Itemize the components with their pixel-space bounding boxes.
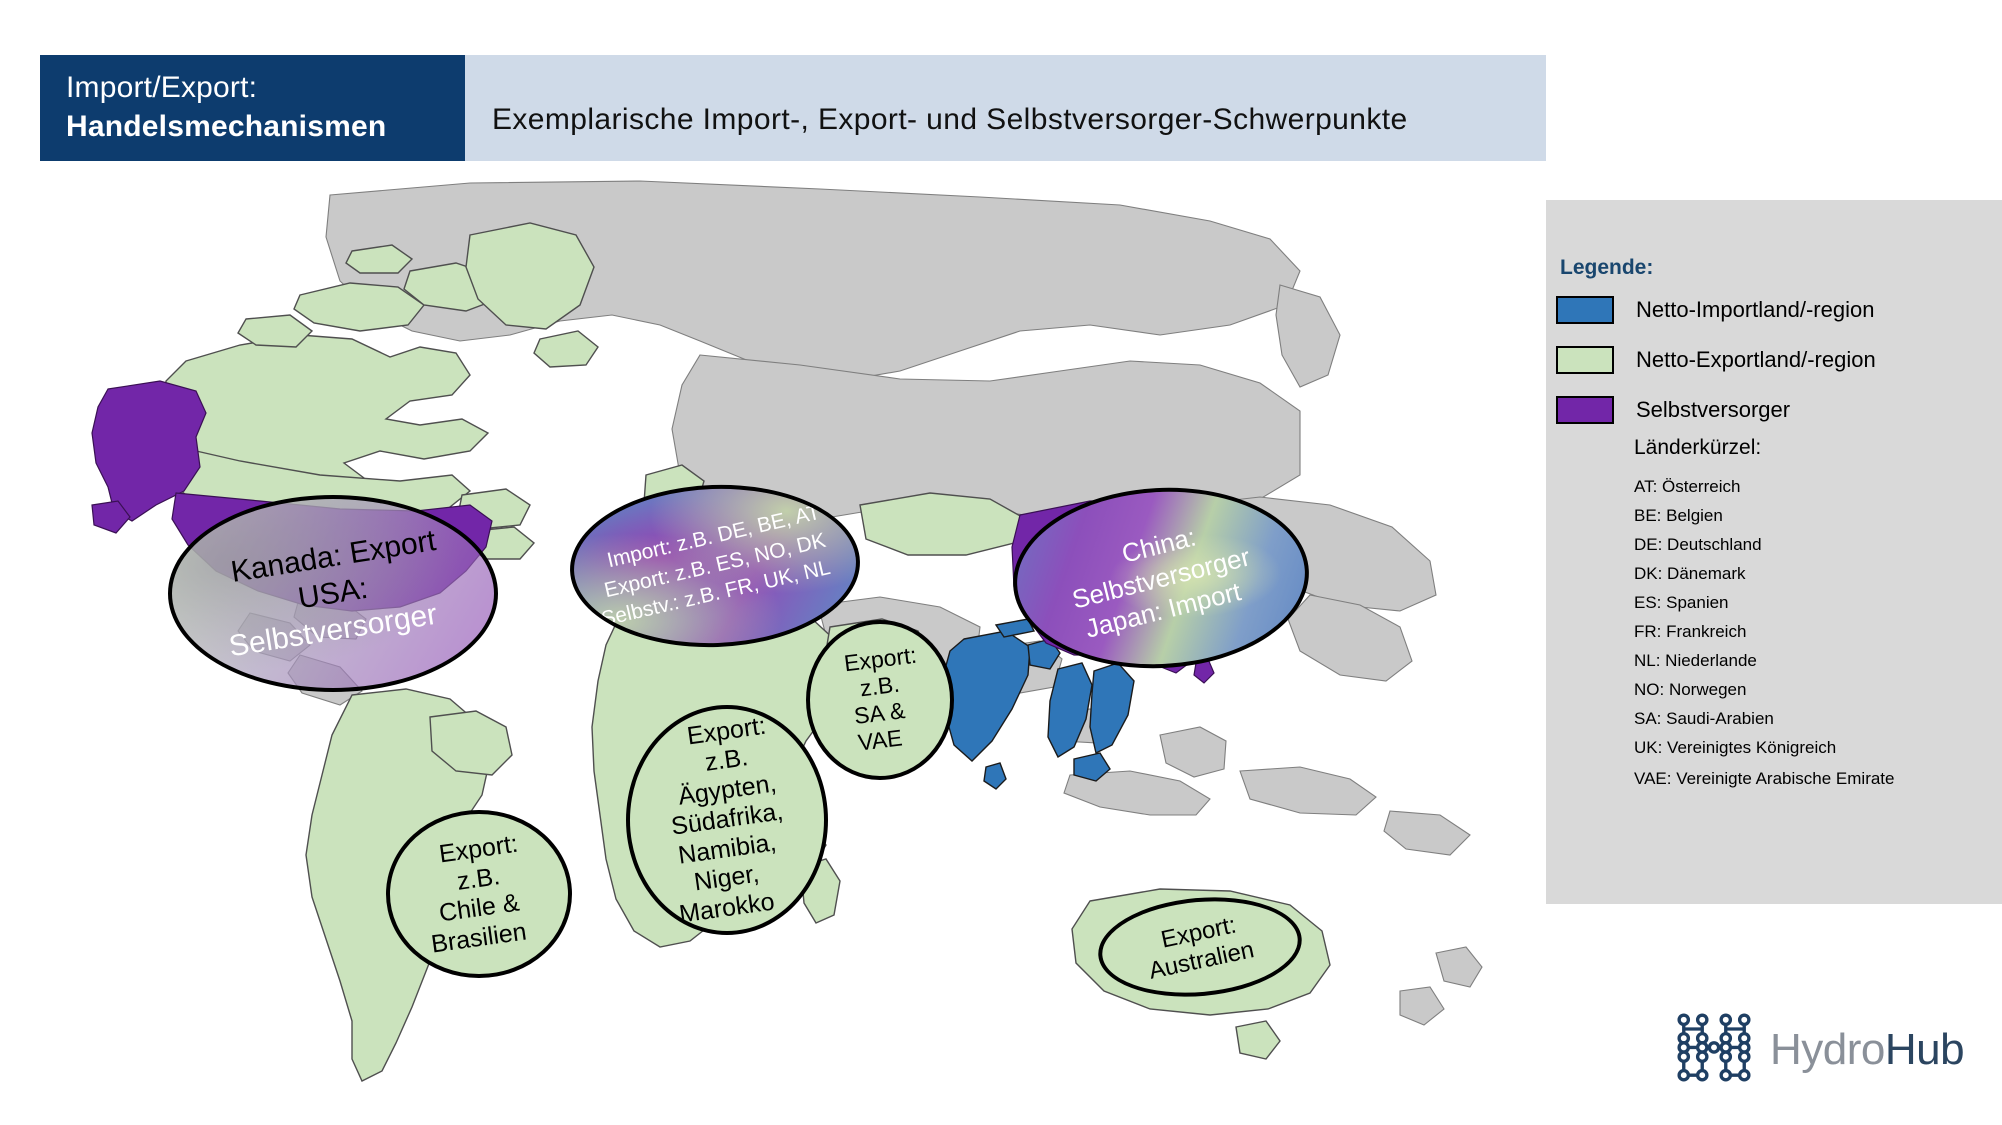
abbrev-item-dk: DK: Dänemark	[1634, 559, 1984, 588]
callout-middle-east-line4: VAE	[856, 725, 903, 757]
hydrohub-logo-mark	[1672, 1008, 1756, 1092]
country-abbreviations-list: AT: Österreich BE: Belgien DE: Deutschla…	[1634, 472, 1984, 791]
callout-africa-line7: Marokko	[677, 887, 776, 930]
header-title-line1: Import/Export:	[66, 69, 465, 107]
slide-canvas: .lnd { stroke:#7f7f7f; stroke-width:1.1;…	[0, 0, 2002, 1125]
legend-item-self-sufficient: Selbstversorger	[1556, 396, 1790, 424]
abbrev-item-vae: VAE: Vereinigte Arabische Emirate	[1634, 762, 1984, 791]
legend-label-export: Netto-Exportland/-region	[1636, 347, 1876, 373]
legend-label-import: Netto-Importland/-region	[1636, 297, 1874, 323]
logo-text-hub: Hub	[1885, 1025, 1964, 1074]
legend-swatch-export	[1556, 346, 1614, 374]
abbrev-item-fr: FR: Frankreich	[1634, 617, 1984, 646]
legend-item-import: Netto-Importland/-region	[1556, 296, 1874, 324]
callout-north-america: Kanada: Export USA: Selbstversorger	[168, 495, 498, 692]
abbrev-item-de: DE: Deutschland	[1634, 530, 1984, 559]
abbrev-item-es: ES: Spanien	[1634, 588, 1984, 617]
header-title-line2: Handelsmechanismen	[66, 107, 465, 147]
callout-south-america: Export: z.B. Chile & Brasilien	[386, 810, 572, 978]
legend-label-self-sufficient: Selbstversorger	[1636, 397, 1790, 423]
abbrev-item-be: BE: Belgien	[1634, 501, 1984, 530]
legend-heading: Legende:	[1560, 256, 1653, 280]
abbrev-item-uk: UK: Vereinigtes Königreich	[1634, 733, 1984, 762]
hydrohub-logo-text: HydroHub	[1770, 1025, 1964, 1075]
callout-middle-east: Export: z.B. SA & VAE	[806, 620, 954, 780]
hydrohub-logo: HydroHub	[1672, 1008, 1964, 1092]
legend-swatch-import	[1556, 296, 1614, 324]
header-title-box: Import/Export: Handelsmechanismen	[40, 55, 465, 161]
abbrev-item-sa: SA: Saudi-Arabien	[1634, 704, 1984, 733]
abbrev-item-at: AT: Österreich	[1634, 472, 1984, 501]
country-abbreviations-heading: Länderkürzel:	[1634, 436, 1761, 460]
header-subtitle: Exemplarische Import-, Export- und Selbs…	[492, 103, 1408, 137]
abbrev-item-nl: NL: Niederlande	[1634, 646, 1984, 675]
logo-text-hydro: Hydro	[1770, 1025, 1885, 1074]
legend-item-export: Netto-Exportland/-region	[1556, 346, 1876, 374]
legend-swatch-self-sufficient	[1556, 396, 1614, 424]
callout-africa: Export: z.B. Ägypten, Südafrika, Namibia…	[626, 705, 828, 935]
abbrev-item-no: NO: Norwegen	[1634, 675, 1984, 704]
